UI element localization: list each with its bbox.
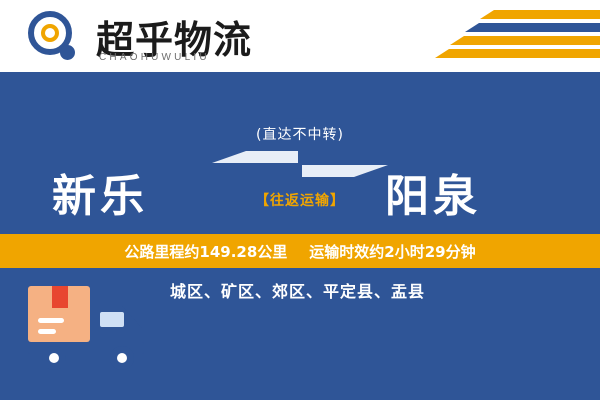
logo-inner-ring bbox=[41, 24, 59, 42]
stripe-1 bbox=[480, 10, 600, 19]
logo-dot bbox=[60, 45, 75, 60]
distance-text: 公路里程约149.28公里 bbox=[124, 241, 287, 262]
stripe-3 bbox=[450, 36, 600, 45]
circle-logo-icon bbox=[28, 11, 80, 63]
duration-text: 运输时效约2小时29分钟 bbox=[309, 241, 475, 262]
stripe-4 bbox=[435, 49, 600, 58]
info-bar: 公路里程约149.28公里 运输时效约2小时29分钟 bbox=[0, 234, 600, 268]
route-note-direct: (直达不中转) bbox=[0, 124, 600, 144]
brand-name-en: CHAOHUWULIU bbox=[99, 52, 210, 63]
speed-stripes-icon bbox=[430, 8, 600, 64]
coverage-areas: 城区、矿区、郊区、平定县、盂县 bbox=[170, 278, 425, 302]
delivery-truck-icon bbox=[22, 272, 170, 384]
double-arrow-icon bbox=[212, 150, 388, 178]
route-section: 新乐 阳泉 (直达不中转) 【往返运输】 bbox=[0, 72, 600, 234]
route-note-roundtrip: 【往返运输】 bbox=[0, 190, 600, 210]
stripe-2 bbox=[465, 23, 600, 32]
header: 超乎物流 CHAOHUWULIU bbox=[0, 0, 600, 72]
poster-root: 超乎物流 CHAOHUWULIU 新乐 阳泉 (直达不中转) 【往返运输】 公路… bbox=[0, 0, 600, 400]
